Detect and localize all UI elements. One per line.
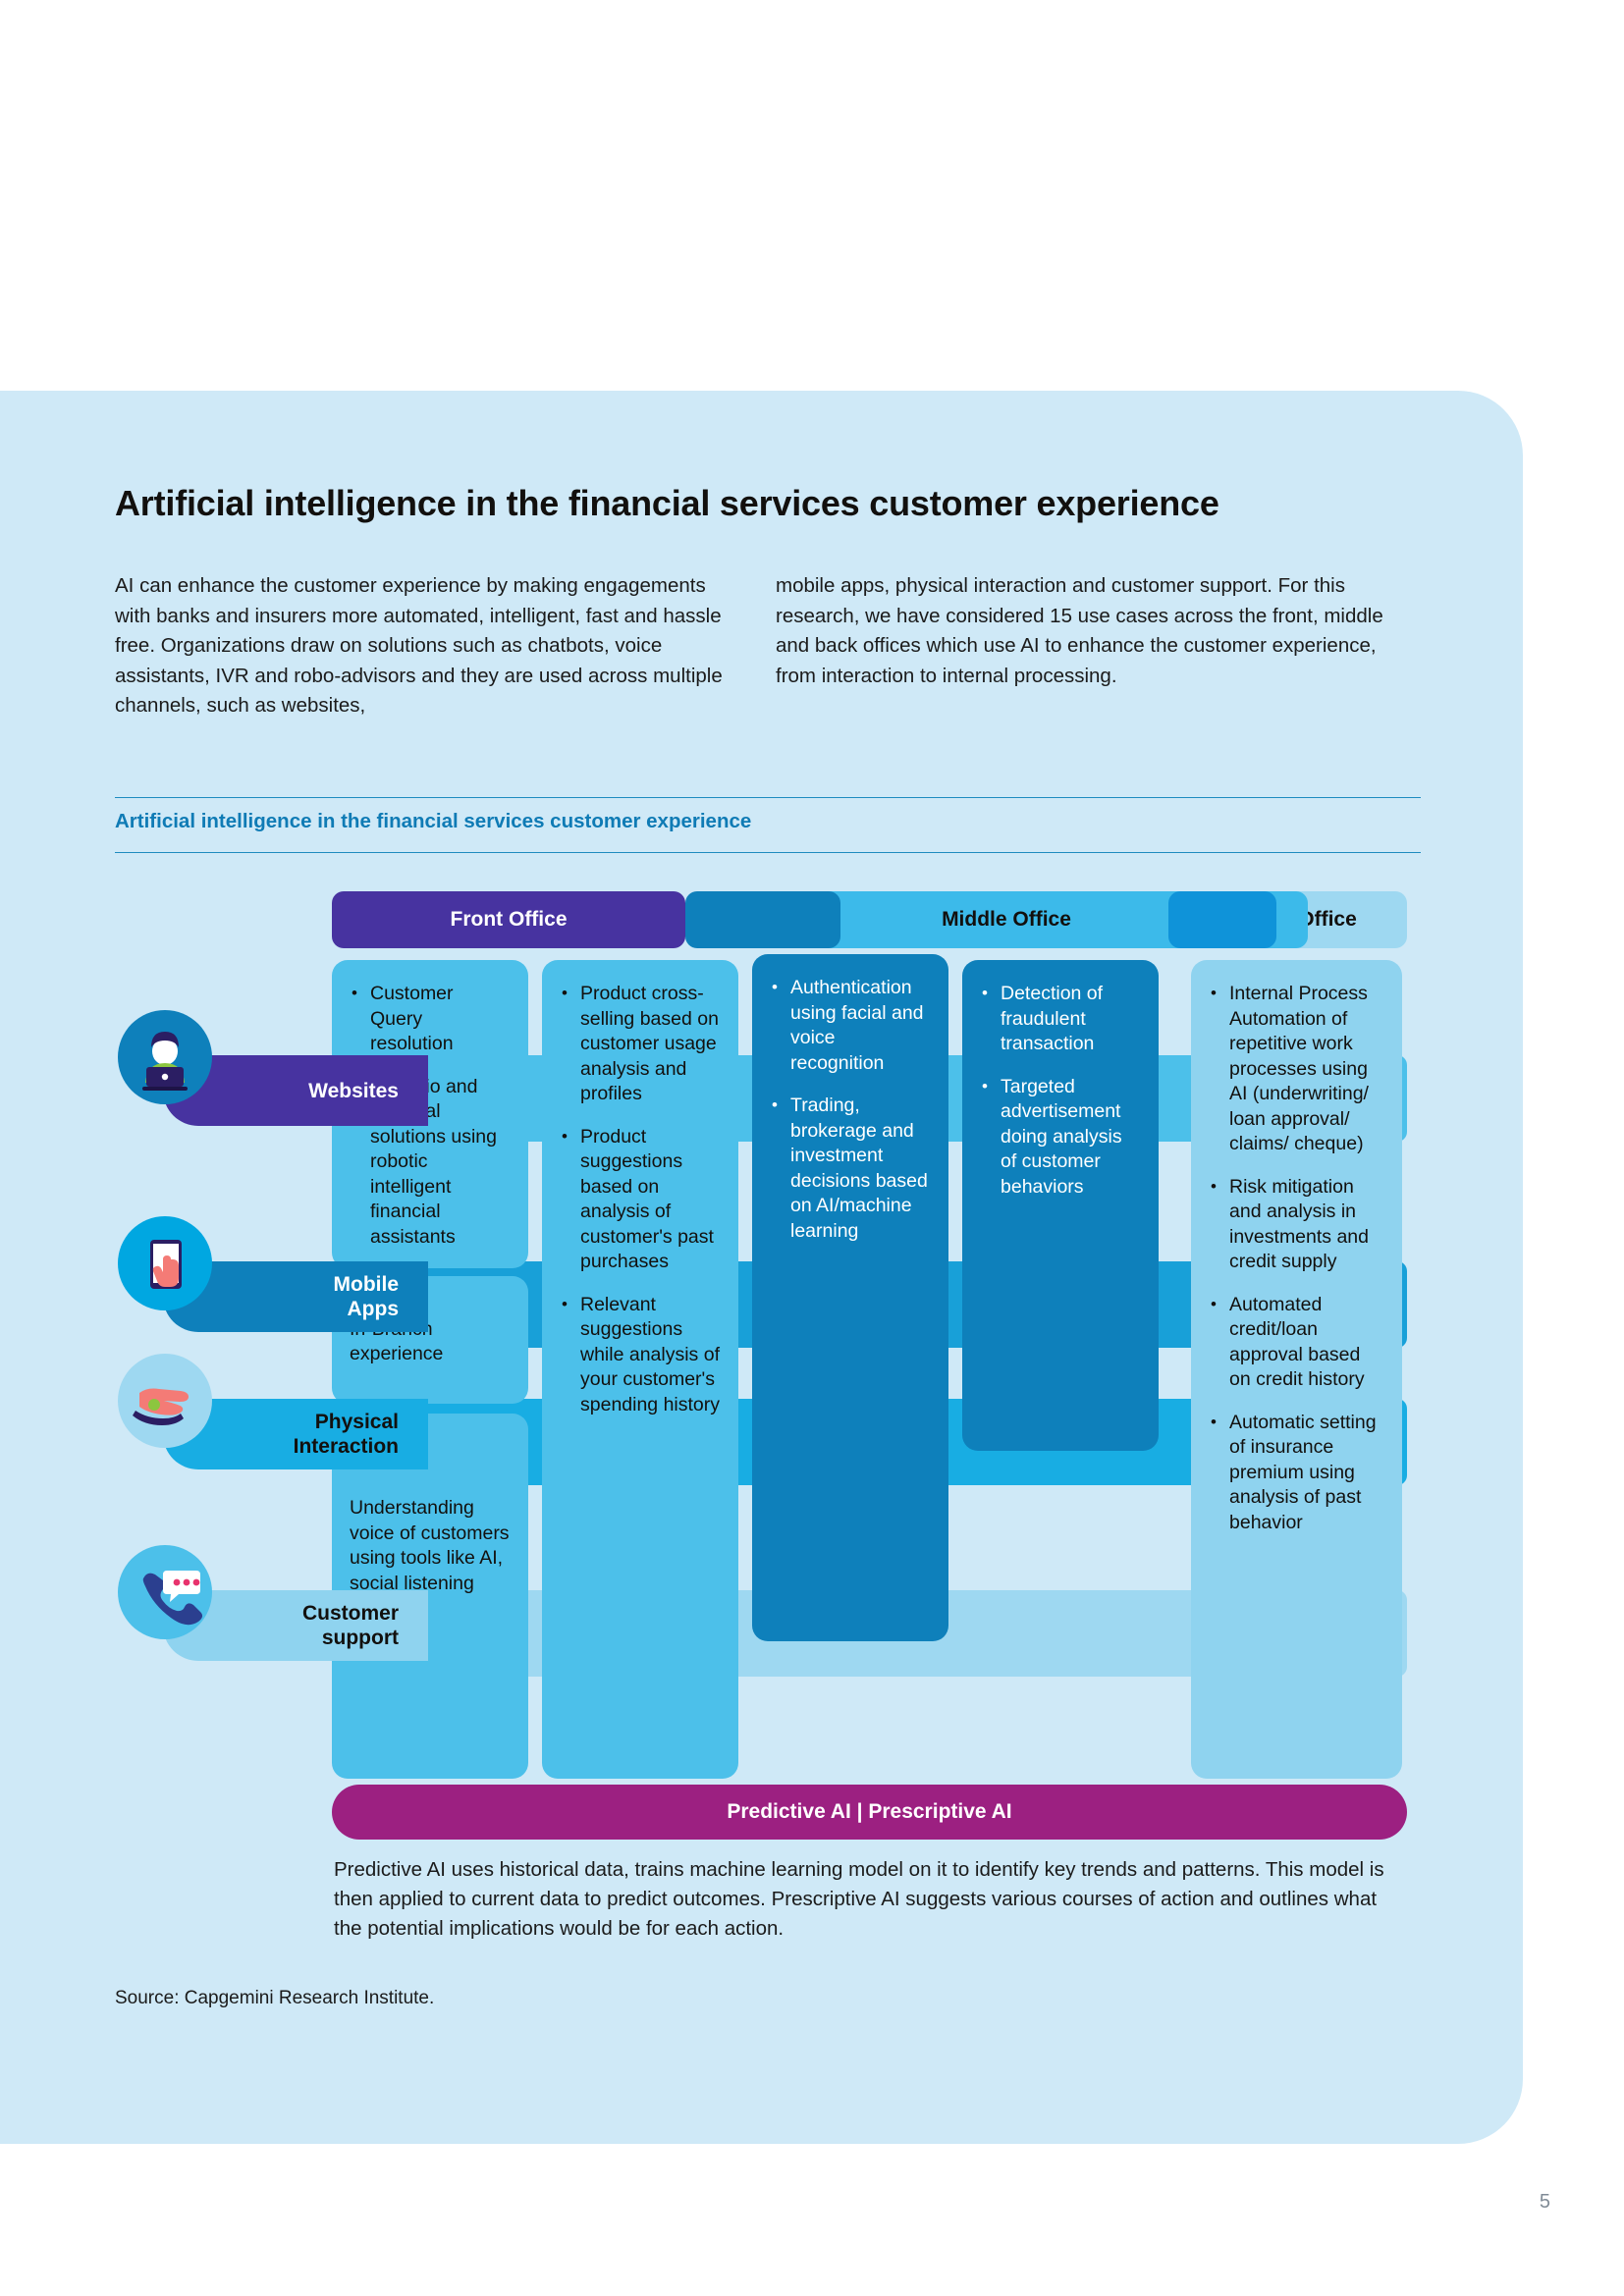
channel-mobile-apps-label: Mobile Apps (334, 1272, 400, 1321)
cell-bullet: Product cross-selling based on customer … (560, 982, 721, 1107)
cell-middle-2[interactable]: Detection of fraudulent transaction Targ… (962, 960, 1159, 1451)
phone-chat-icon (118, 1545, 212, 1639)
cell-bullet: Product suggestions based on analysis of… (560, 1125, 721, 1275)
cell-bullet: Detection of fraudulent transaction (980, 982, 1141, 1057)
intro-paragraph-right: mobile apps, physical interaction and cu… (776, 571, 1404, 691)
page-number: 5 (1540, 2191, 1550, 2214)
predictive-prescriptive-label: Predictive AI | Prescriptive AI (727, 1800, 1011, 1824)
office-header-front[interactable]: Front Office (332, 891, 685, 948)
cell-bullet: Automated credit/loan approval based on … (1209, 1293, 1384, 1393)
cell-bullet: Risk mitigation and analysis in investme… (1209, 1175, 1384, 1275)
cell-middle-1[interactable]: Authentication using facial and voice re… (752, 954, 948, 1641)
cell-bullet: Automatic setting of insurance premium u… (1209, 1411, 1384, 1536)
person-laptop-icon (118, 1010, 212, 1104)
office-tab-front-middle (685, 891, 840, 948)
cell-bullet: Authentication using facial and voice re… (770, 976, 931, 1076)
cell-back-1[interactable]: Internal Process Automation of repetitiv… (1191, 960, 1402, 1779)
cell-bullet: Internal Process Automation of repetitiv… (1209, 982, 1384, 1157)
channel-customer-support-label: Customer support (302, 1601, 399, 1650)
intro-paragraph-left: AI can enhance the customer experience b… (115, 571, 724, 721)
cell-bullet: Trading, brokerage and investment decisi… (770, 1094, 931, 1244)
office-tab-middle-back (1168, 891, 1276, 948)
cell-bullet: Targeted advertisement doing analysis of… (980, 1075, 1141, 1201)
exhibit-title: Artificial intelligence in the financial… (115, 810, 751, 833)
predictive-description: Predictive AI uses historical data, trai… (334, 1855, 1384, 1944)
mobile-tap-icon (118, 1216, 212, 1310)
cell-front-2[interactable]: Product cross-selling based on customer … (542, 960, 738, 1779)
channel-websites-label: Websites (308, 1079, 399, 1103)
hand-coin-icon (118, 1354, 212, 1448)
exhibit-divider-top (115, 797, 1421, 798)
page-title: Artificial intelligence in the financial… (115, 483, 1421, 524)
predictive-prescriptive-bar[interactable]: Predictive AI | Prescriptive AI (332, 1785, 1407, 1840)
source-note: Source: Capgemini Research Institute. (115, 1988, 434, 2009)
cell-bullet: Customer Query resolution (350, 982, 511, 1057)
exhibit-divider-bottom (115, 852, 1421, 853)
channel-physical-interaction-label: Physical Interaction (294, 1410, 399, 1459)
cell-bullet: Relevant suggestions while analysis of y… (560, 1293, 721, 1418)
cell-text: Understanding voice of customers using t… (350, 1496, 511, 1596)
